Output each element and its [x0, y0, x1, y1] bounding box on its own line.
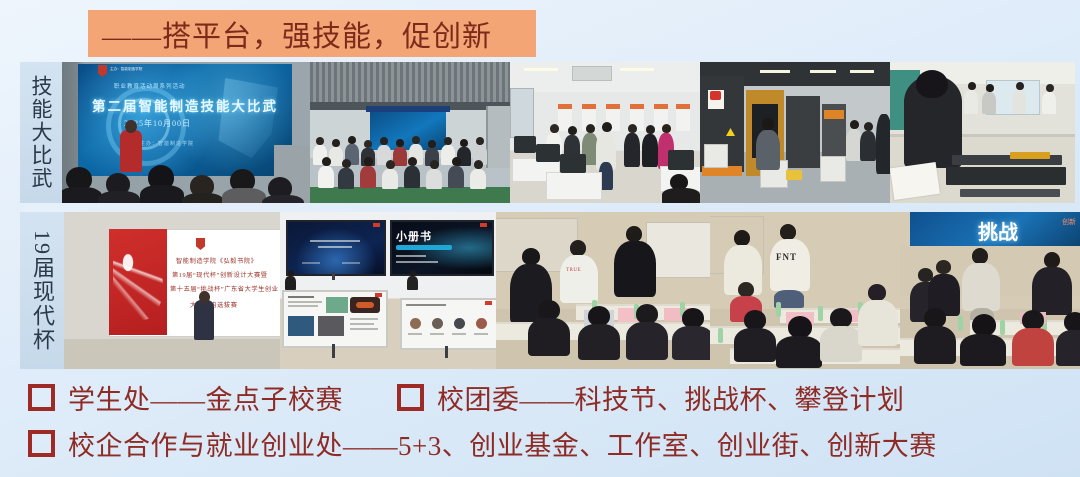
square-bullet-icon [397, 384, 424, 411]
audience-silhouettes [62, 159, 310, 203]
bullet-school-enterprise[interactable]: 校企合作与就业创业处——5+3、创业基金、工作室、创业街、创新大赛 [28, 424, 937, 463]
page-title: ——搭平台，强技能，促创新 [88, 13, 492, 55]
worksheet-paper [890, 162, 940, 200]
photo-modern-cup-opening-screen: 智能制造学院《弘毅书院》 第19届“现代杯”创新设计大赛暨 第十五届“挑战杯”广… [64, 212, 280, 369]
photo-electronics-bench-contest [890, 62, 1075, 203]
screen-line-1: 智能制造学院《弘毅书院》 [176, 256, 257, 265]
square-bullet-icon [28, 384, 55, 411]
photo-classroom-presentation-b: FNT [710, 212, 900, 369]
photo-group-photo-workshop [310, 62, 510, 203]
photo-four-monitor-exhibits: 小册书 [280, 212, 496, 369]
bullet-text: 学生处——金点子校赛 [68, 378, 343, 417]
photo-strip-skill-contest: 技能大比武 主办：智能制造学院 职业教育活动周系列活动 第二届智能制造技能大比武… [20, 62, 1070, 203]
title-banner: ——搭平台，强技能，促创新 [88, 10, 536, 57]
screen-subtitle: 职业教育活动周系列活动 [114, 82, 186, 90]
bullet-youth-league[interactable]: 校团委——科技节、挑战杯、攀登计划 [397, 378, 905, 417]
photo-computer-lab-briefing [510, 62, 700, 203]
photo-classroom-award-screen: 挑战 创新 [900, 212, 1080, 369]
row-label-skill-contest: 技能大比武 [20, 62, 62, 203]
slide-root: ——搭平台，强技能，促创新 技能大比武 主办：智能制造学院 职业教育活动周系列活… [0, 0, 1080, 477]
screen-corner-text: 创新 [1062, 217, 1076, 227]
screen-line-2: 第19届“现代杯”创新设计大赛暨 [172, 270, 268, 279]
screen-award-text: 挑战 [978, 216, 1018, 245]
square-bullet-icon [28, 430, 55, 457]
safety-poster [708, 90, 724, 109]
bullet-row-1: 学生处——金点子校赛 校团委——科技节、挑战杯、攀登计划 [0, 374, 1080, 420]
screen-host: 主办：智能制造学院 [140, 140, 194, 147]
photo-opening-ceremony-led-screen: 主办：智能制造学院 职业教育活动周系列活动 第二届智能制造技能大比武 2025年… [62, 62, 310, 203]
bullet-text: 校团委——科技节、挑战杯、攀登计划 [437, 378, 905, 417]
screen-title: 第二届智能制造技能大比武 [92, 95, 278, 115]
photo-classroom-presentation-a: TRUE [496, 212, 710, 369]
bullet-text: 校企合作与就业创业处——5+3、创业基金、工作室、创业街、创新大赛 [68, 424, 937, 463]
bullet-student-affairs[interactable]: 学生处——金点子校赛 [28, 378, 343, 417]
bullet-list: 学生处——金点子校赛 校团委——科技节、挑战杯、攀登计划 校企合作与就业创业处—… [0, 374, 1080, 466]
screen-line-3: 第十五届“挑战杯”广东省大学生创业 [170, 284, 279, 293]
monitor-title: 小册书 [396, 228, 432, 244]
row-label-modern-cup: 19届现代杯 [20, 212, 64, 369]
bullet-row-2: 校企合作与就业创业处——5+3、创业基金、工作室、创业街、创新大赛 [0, 420, 1080, 466]
crowd-of-students [310, 135, 510, 189]
photo-strip-modern-cup: 19届现代杯 智能制造学院《弘毅书院》 第19届“现代杯”创新设计大赛暨 第十五… [20, 212, 1070, 369]
photo-cnc-machine-shop [700, 62, 890, 203]
